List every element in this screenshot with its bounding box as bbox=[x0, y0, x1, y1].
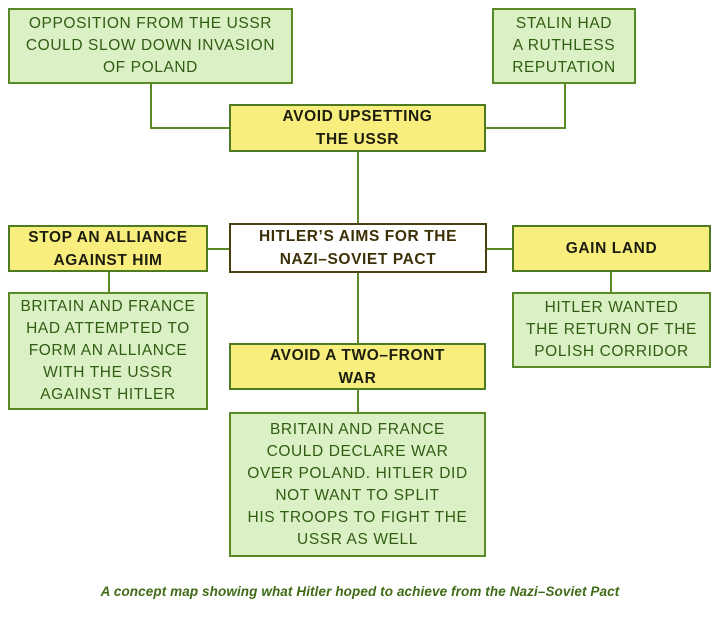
node-gain-land[interactable]: GAIN LAND bbox=[512, 225, 711, 272]
node-britain-france-declare-war[interactable]: BRITAIN AND FRANCE COULD DECLARE WAR OVE… bbox=[229, 412, 486, 557]
connector-stop-alliance-to-center bbox=[207, 248, 231, 250]
connector-stalin-to-avoid-upsetting-vertical bbox=[564, 84, 566, 129]
node-avoid-upsetting-the-ussr[interactable]: AVOID UPSETTING THE USSR bbox=[229, 104, 486, 152]
node-avoid-a-two-front-war[interactable]: AVOID A TWO–FRONT WAR bbox=[229, 343, 486, 390]
node-stalin-ruthless-reputation[interactable]: STALIN HAD A RUTHLESS REPUTATION bbox=[492, 8, 636, 84]
connector-avoid-upsetting-to-center bbox=[357, 151, 359, 224]
node-label: AVOID A TWO–FRONT WAR bbox=[231, 344, 484, 390]
connector-opposition-to-avoid-upsetting-horizontal bbox=[150, 127, 231, 129]
node-label: HITLER WANTED THE RETURN OF THE POLISH C… bbox=[514, 297, 709, 363]
node-label: HITLER’S AIMS FOR THE NAZI–SOVIET PACT bbox=[231, 225, 485, 271]
concept-map-canvas: OPPOSITION FROM THE USSR COULD SLOW DOWN… bbox=[0, 0, 720, 624]
connector-center-to-two-front-war bbox=[357, 272, 359, 344]
node-britain-france-alliance-attempt[interactable]: BRITAIN AND FRANCE HAD ATTEMPTED TO FORM… bbox=[8, 292, 208, 410]
connector-stop-alliance-to-britain-france bbox=[108, 271, 110, 293]
connector-opposition-to-avoid-upsetting-vertical bbox=[150, 84, 152, 129]
connector-center-to-gain-land bbox=[486, 248, 513, 250]
connector-gain-land-to-polish-corridor bbox=[610, 271, 612, 293]
node-label: STALIN HAD A RUTHLESS REPUTATION bbox=[494, 13, 634, 79]
node-label: OPPOSITION FROM THE USSR COULD SLOW DOWN… bbox=[10, 13, 291, 79]
diagram-caption: A concept map showing what Hitler hoped … bbox=[0, 584, 720, 599]
node-polish-corridor-return[interactable]: HITLER WANTED THE RETURN OF THE POLISH C… bbox=[512, 292, 711, 368]
node-label: BRITAIN AND FRANCE HAD ATTEMPTED TO FORM… bbox=[10, 296, 206, 406]
node-label: AVOID UPSETTING THE USSR bbox=[231, 105, 484, 151]
node-label: STOP AN ALLIANCE AGAINST HIM bbox=[10, 226, 206, 272]
node-opposition-from-the-ussr[interactable]: OPPOSITION FROM THE USSR COULD SLOW DOWN… bbox=[8, 8, 293, 84]
node-label: GAIN LAND bbox=[514, 237, 709, 260]
node-label: BRITAIN AND FRANCE COULD DECLARE WAR OVE… bbox=[231, 419, 484, 551]
connector-two-front-war-to-declare-war bbox=[357, 390, 359, 413]
node-hitlers-aims-for-the-nazi-soviet-pact[interactable]: HITLER’S AIMS FOR THE NAZI–SOVIET PACT bbox=[229, 223, 487, 273]
connector-stalin-to-avoid-upsetting-horizontal bbox=[486, 127, 566, 129]
node-stop-an-alliance-against-him[interactable]: STOP AN ALLIANCE AGAINST HIM bbox=[8, 225, 208, 272]
